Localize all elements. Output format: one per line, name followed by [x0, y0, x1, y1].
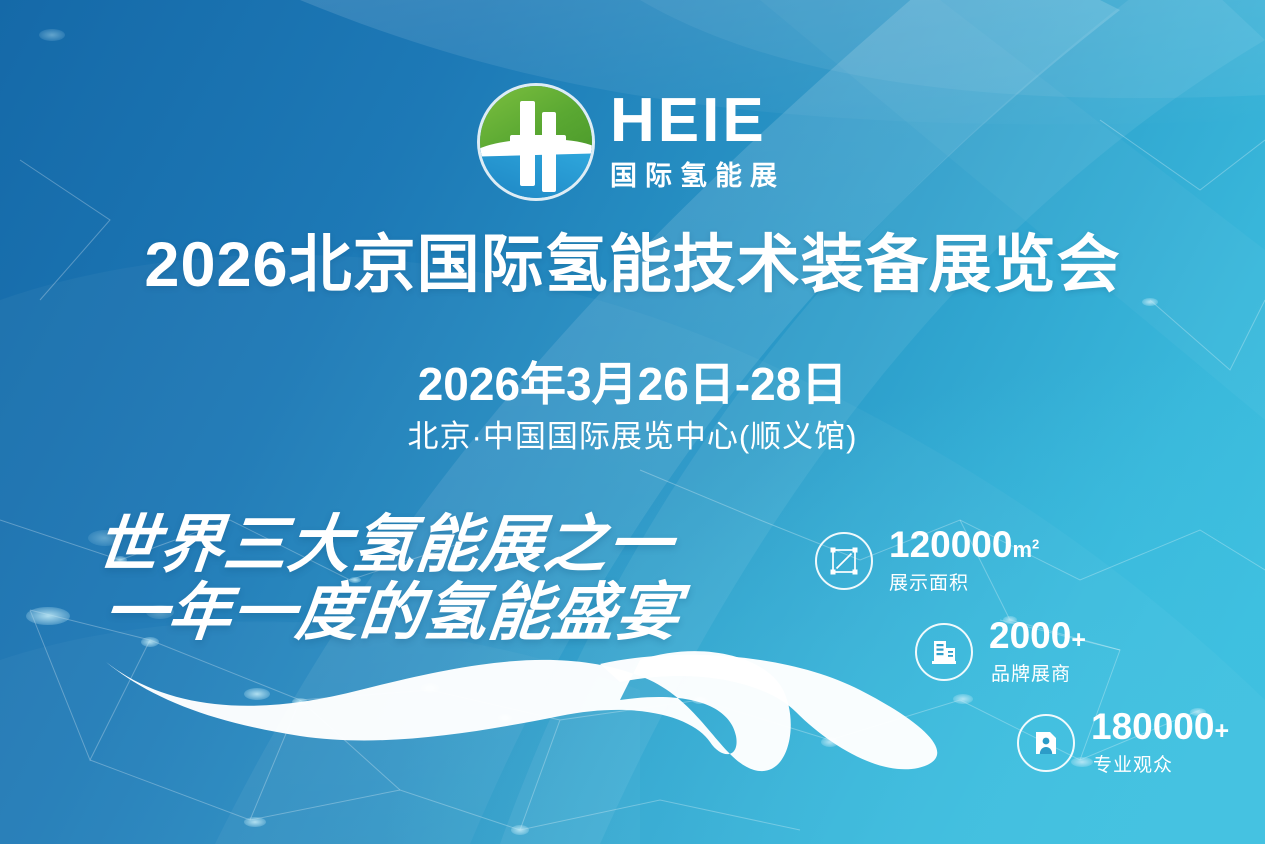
event-date: 2026年3月26日-28日 — [0, 348, 1265, 414]
stat-label: 专业观众 — [1093, 750, 1173, 777]
stats-block: 120000m2 展示面积 — [805, 512, 1265, 812]
logo-h-glyph — [480, 86, 592, 198]
brand-logo-block: HEIE 国际氢能展 — [0, 86, 1265, 198]
stat-item: 2000+ 品牌展商 — [915, 617, 1086, 686]
slogan-block: 世界三大氢能展之一 一年一度的氢能盛宴 — [96, 516, 672, 644]
poster-banner: HEIE 国际氢能展 2026北京国际氢能技术装备展览会 2026年3月26日-… — [0, 0, 1265, 844]
page-title: 2026北京国际氢能技术装备展览会 — [0, 232, 1265, 299]
stat-label: 品牌展商 — [991, 659, 1071, 686]
building-icon — [915, 623, 973, 681]
stat-unit: m2 — [1012, 537, 1039, 562]
brand-chinese-name: 国际氢能展 — [610, 154, 785, 193]
stat-value: 2000+ — [989, 617, 1086, 654]
stat-label: 展示面积 — [889, 568, 969, 595]
stat-item: 180000+ 专业观众 — [1017, 708, 1229, 777]
stat-value: 180000+ — [1091, 708, 1229, 745]
stat-value: 120000m2 — [889, 526, 1039, 563]
event-venue: 北京·中国国际展览中心(顺义馆) — [0, 411, 1265, 456]
area-measure-icon — [815, 532, 873, 590]
brand-text: HEIE 国际氢能展 — [610, 91, 785, 194]
brand-wordmark: HEIE — [610, 91, 767, 151]
slogan-line-1: 世界三大氢能展之一 — [93, 516, 675, 576]
stat-item: 120000m2 展示面积 — [815, 526, 1039, 595]
heie-circle-logo-icon — [480, 86, 592, 198]
slogan-line-2: 一年一度的氢能盛宴 — [101, 584, 683, 644]
visitor-badge-icon — [1017, 714, 1075, 772]
